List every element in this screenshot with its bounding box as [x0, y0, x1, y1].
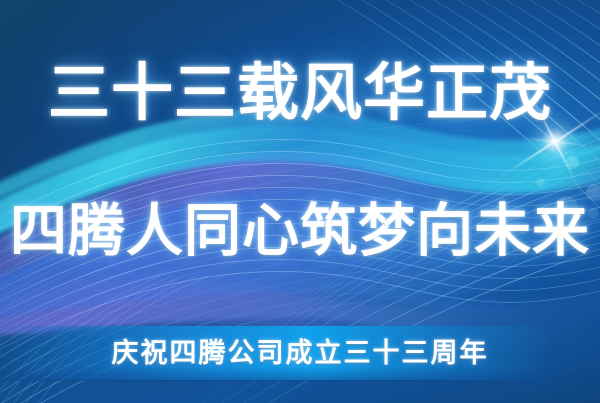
- subtitle: 庆祝四腾公司成立三十三周年: [0, 338, 600, 370]
- headline-line-1-text: 三十三载风华正茂: [48, 58, 552, 128]
- headline-line-1: 三十三载风华正茂: [0, 58, 600, 128]
- headline-line-2: 四腾人同心筑梦向未来: [0, 196, 600, 266]
- headline-line-2-text: 四腾人同心筑梦向未来: [10, 196, 590, 266]
- anniversary-poster: 三十三载风华正茂 四腾人同心筑梦向未来 庆祝四腾公司成立三十三周年: [0, 0, 600, 403]
- subtitle-text: 庆祝四腾公司成立三十三周年: [112, 338, 489, 370]
